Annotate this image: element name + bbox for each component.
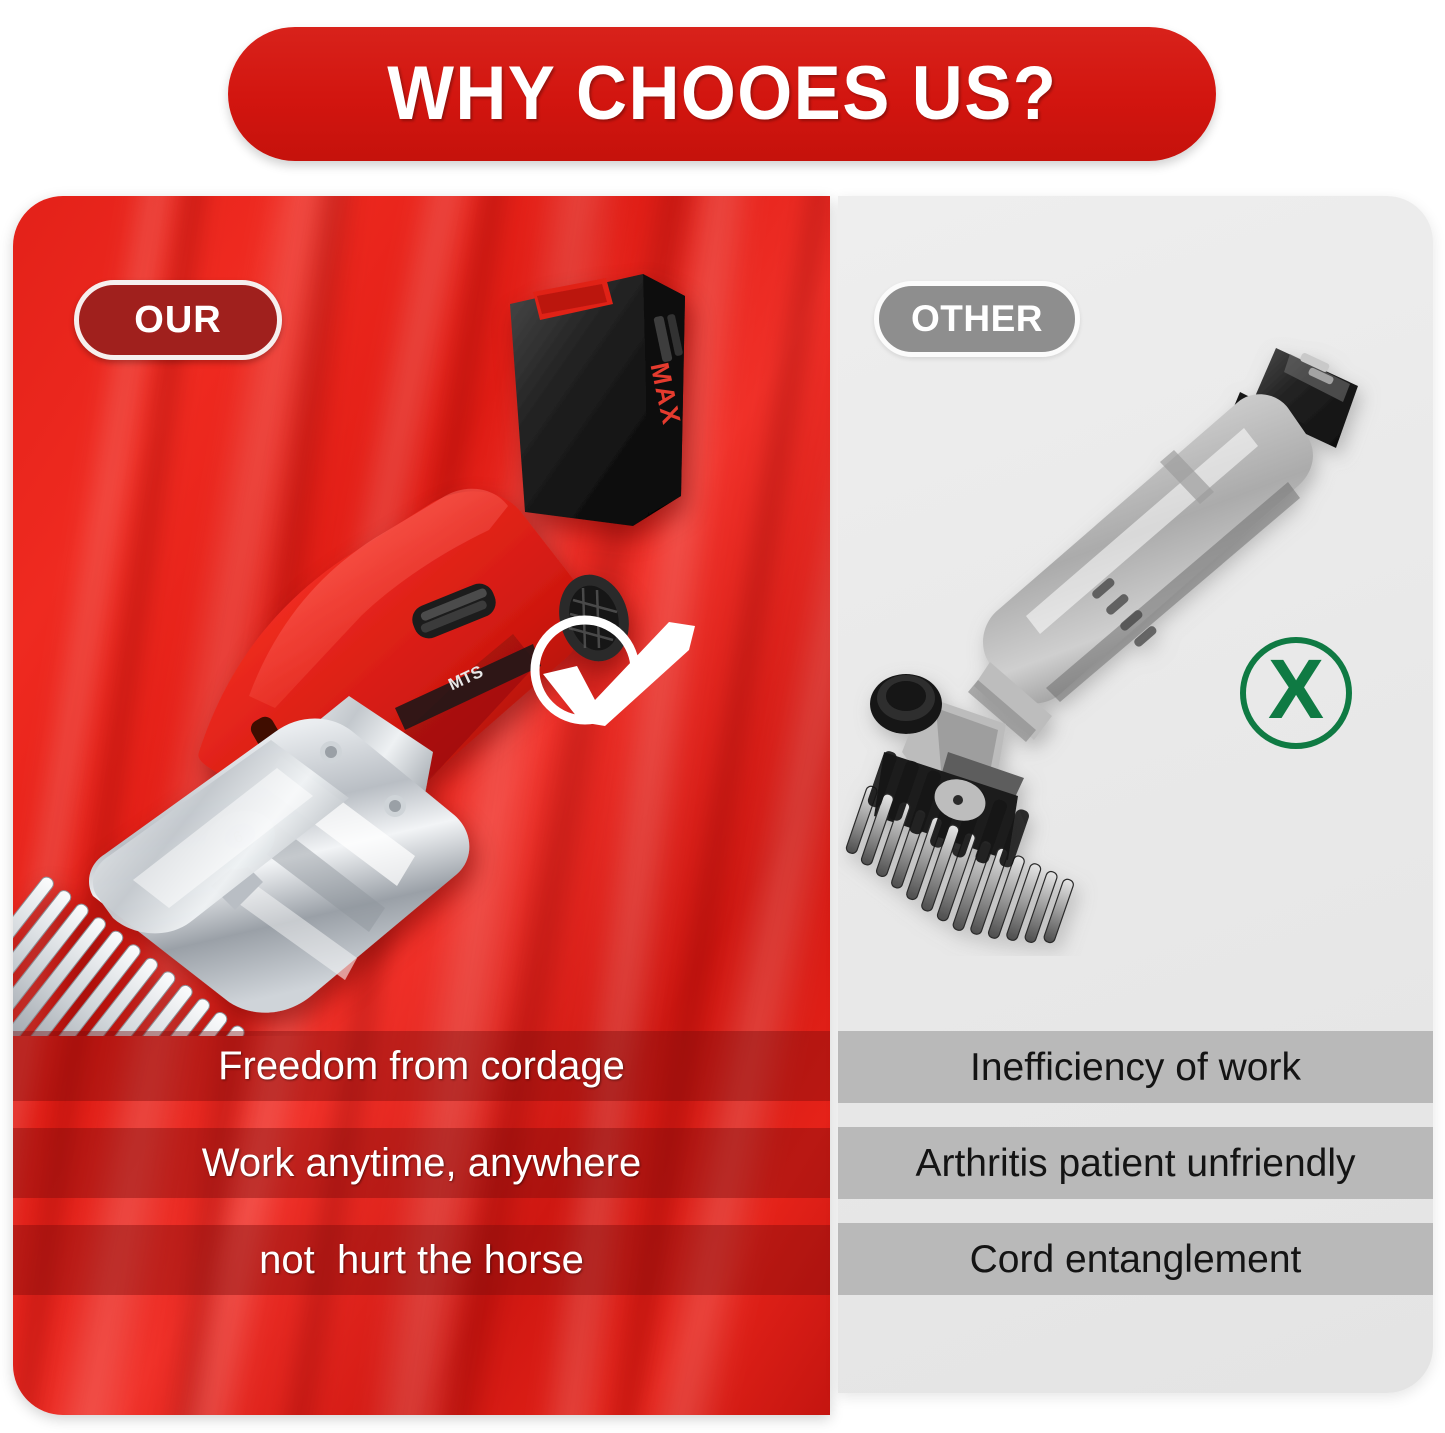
badge-other-label: OTHER	[911, 298, 1043, 340]
x-glyph: X	[1268, 642, 1324, 736]
battery-pack: MAX	[510, 274, 687, 526]
feature-row-our: not hurt the horse	[13, 1225, 830, 1295]
badge-our: OUR	[74, 280, 282, 360]
feature-row-our: Freedom from cordage	[13, 1031, 830, 1101]
feature-row-other: Arthritis patient unfriendly	[838, 1127, 1433, 1199]
feature-label: Inefficiency of work	[970, 1048, 1301, 1087]
x-circle-icon: X	[1235, 632, 1357, 754]
badge-other: OTHER	[874, 281, 1080, 357]
badge-our-label: OUR	[134, 299, 221, 342]
feature-label: Cord entanglement	[970, 1240, 1302, 1279]
feature-label: Work anytime, anywhere	[202, 1143, 641, 1183]
feature-row-other: Inefficiency of work	[838, 1031, 1433, 1103]
feature-label: not hurt the horse	[259, 1240, 584, 1280]
feature-row-other: Cord entanglement	[838, 1223, 1433, 1295]
feature-row-our: Work anytime, anywhere	[13, 1128, 830, 1198]
feature-label: Arthritis patient unfriendly	[915, 1144, 1355, 1183]
feature-label: Freedom from cordage	[218, 1046, 625, 1086]
shear-blades	[838, 749, 1083, 956]
feature-list-other: Inefficiency of work Arthritis patient u…	[838, 1031, 1433, 1293]
check-circle-icon	[519, 604, 709, 734]
feature-list-our: Freedom from cordage Work anytime, anywh…	[13, 1031, 830, 1296]
